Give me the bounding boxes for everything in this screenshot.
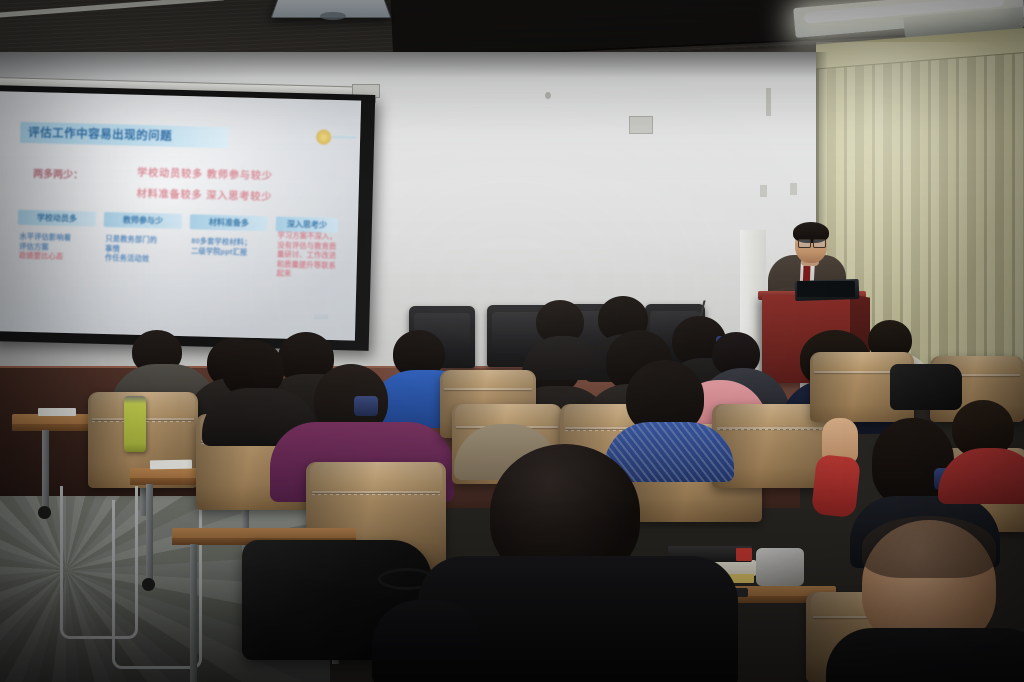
glasses-icon <box>798 239 811 248</box>
attendee-right-edge <box>944 400 1024 492</box>
hair <box>862 516 996 578</box>
lecture-hall-photo: 评估工作中容易出现的问题 两多两少： 学校动员较多 教师参与较少 材料准备较多 … <box>0 0 1024 682</box>
slide-body-line: 二级学院ppt汇报 <box>191 246 275 258</box>
slide-column-body: 只是教务部门的事情作任务活动效 <box>105 234 186 265</box>
wall-socket <box>629 116 653 134</box>
notebook <box>38 408 76 416</box>
plastic-bag <box>756 548 804 586</box>
presentation-slide: 评估工作中容易出现的问题 两多两少： 学校动员较多 教师参与较少 材料准备较多 … <box>0 91 361 340</box>
slide-body-line: 作任务活动效 <box>105 253 185 265</box>
slide-column-header: 材料准备多 <box>190 214 268 231</box>
wall-conduit <box>766 88 771 116</box>
wall-sensor-icon <box>545 92 551 99</box>
slide-body-line: 起来 <box>276 268 338 279</box>
attendee-row0-a <box>528 300 594 364</box>
notebook <box>150 460 192 470</box>
red-sleeve <box>811 454 861 518</box>
attendee-bald-man <box>836 520 1024 682</box>
slide-logo-rule <box>332 136 356 139</box>
slide-body-line: 政绩要比心态 <box>19 251 99 263</box>
green-thermos <box>124 396 146 452</box>
slide-column-body: 80多套学校材料；二级学院ppt汇报 <box>191 236 275 257</box>
slide-lead-line-2: 材料准备较多 深入思考较少 <box>136 185 272 204</box>
wall-socket <box>760 185 767 197</box>
slide-page-number: 11/23 <box>313 314 328 320</box>
wall-socket <box>790 183 797 195</box>
hair-clip-icon <box>354 396 378 416</box>
slide-logo-icon <box>316 129 331 144</box>
attendee-bottom-left <box>372 600 482 682</box>
projector-lens <box>320 12 346 20</box>
book-label <box>736 548 752 561</box>
slide-column-body: 学习方案不深入，没有评估与教育质量研讨、工作改进和质量提升等联系起来 <box>276 231 339 280</box>
slide-column-header: 教师参与少 <box>104 212 182 229</box>
laptop-screen <box>797 281 855 297</box>
projection-screen: 评估工作中容易出现的问题 两多两少： 学校动员较多 教师参与较少 材料准备较多 … <box>0 85 375 351</box>
slide-column-header: 学校动员多 <box>18 210 96 227</box>
slide-lead-line-1: 学校动员较多 教师参与较少 <box>137 164 273 183</box>
slide-lead-label: 两多两少： <box>33 165 83 181</box>
slide-column-body: 水平评估影响着评估方案政绩要比心态 <box>19 232 100 263</box>
glasses-icon <box>813 239 826 248</box>
